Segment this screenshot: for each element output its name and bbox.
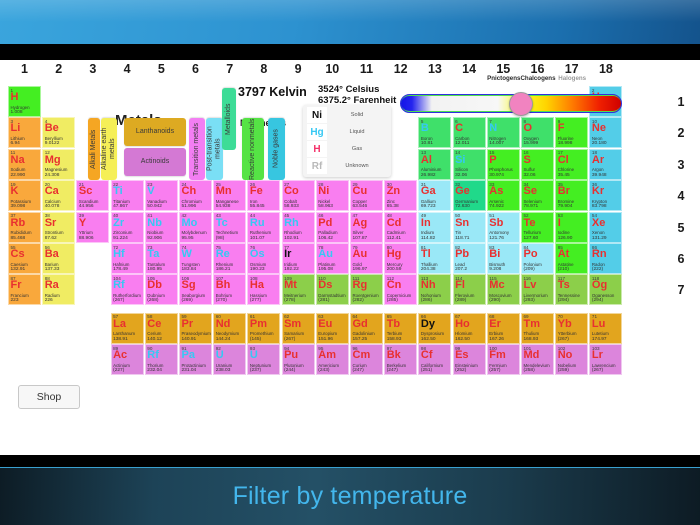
- element-name: Californium: [421, 363, 443, 368]
- element-symbol: Zr: [113, 218, 124, 229]
- element-cell-ra-88[interactable]: 88RaRadium226: [42, 274, 75, 305]
- element-symbol: Hg: [387, 249, 402, 260]
- element-mass: 40.078: [45, 204, 60, 209]
- element-name: Silver: [353, 230, 364, 235]
- element-name: Tellurium: [524, 230, 542, 235]
- element-mass: 180.95: [147, 267, 162, 272]
- state-legend-row-unknown[interactable]: RfUnknown: [303, 158, 391, 174]
- element-cell-mt-109[interactable]: 109MtMeitnerium(278): [282, 274, 315, 305]
- element-symbol: Dy: [421, 319, 435, 330]
- element-cell-pd-46[interactable]: 46PdPalladium106.42: [316, 212, 349, 243]
- element-name: Europium: [318, 331, 337, 336]
- element-mass: 63.546: [353, 204, 368, 209]
- element-mass: 9.208: [489, 267, 501, 272]
- group-number-3: 3: [76, 62, 110, 76]
- element-cell-dy-66[interactable]: 66DyDysprosium162.50: [418, 313, 451, 344]
- element-cell-tm-69[interactable]: 69TmThulium168.93: [521, 313, 554, 344]
- element-cell-p-15[interactable]: 15PPhosphorus30.974: [487, 149, 520, 180]
- element-cell-au-79[interactable]: 79AuGold196.97: [350, 243, 383, 274]
- element-cell-na-11[interactable]: 11NaSodium22.990: [8, 149, 41, 180]
- element-symbol: Cl: [558, 155, 569, 166]
- group-number-18: 18: [589, 62, 623, 76]
- element-cell-pa-91[interactable]: 91PaProtactinium231.04: [179, 344, 212, 375]
- element-cell-xe-54[interactable]: 54XeXenon131.29: [589, 212, 622, 243]
- element-mass: 10.81: [421, 141, 433, 146]
- element-cell-y-39[interactable]: 39YYttrium88.906: [76, 212, 109, 243]
- element-cell-cd-48[interactable]: 48CdCadmium112.41: [384, 212, 417, 243]
- state-legend-row-gas[interactable]: HGas: [303, 141, 391, 157]
- element-symbol: Ts: [558, 280, 570, 291]
- element-cell-ga-31[interactable]: 31GaGallium69.723: [418, 180, 451, 211]
- element-cell-se-34[interactable]: 34SeSelenium78.971: [521, 180, 554, 211]
- element-cell-co-27[interactable]: 27CoCobalt58.933: [282, 180, 315, 211]
- element-symbol: Rf: [147, 350, 159, 361]
- category-chip-alkaline-earth-metals[interactable]: Alkaline earth metals: [101, 118, 117, 180]
- element-symbol: Cs: [11, 249, 25, 260]
- state-legend-symbol: H: [307, 141, 327, 157]
- element-cell-os-76[interactable]: 76OsOsmium190.23: [247, 243, 280, 274]
- element-symbol: Sb: [489, 218, 503, 229]
- element-cell-ds-110[interactable]: 110DsDarmstadtium(281): [316, 274, 349, 305]
- element-cell-cf-98[interactable]: 98CfCalifornium(251): [418, 344, 451, 375]
- element-cell-tb-65[interactable]: 65TbTerbium158.93: [384, 313, 417, 344]
- temperature-celsius: 3524° Celsius: [318, 84, 379, 95]
- element-symbol: Na: [11, 155, 25, 166]
- category-chip-transition-metals[interactable]: Transition metals: [189, 118, 205, 180]
- element-cell-v-23[interactable]: 23VVanadium50.942: [145, 180, 178, 211]
- group-number-7: 7: [213, 62, 247, 76]
- element-symbol: Bk: [387, 350, 401, 361]
- element-cell-no-102[interactable]: 102NoNobelium(259): [555, 344, 588, 375]
- element-cell-h-1[interactable]: 1HHydrogen1.008: [8, 86, 41, 117]
- category-chip-actinoids[interactable]: Actinoids: [124, 148, 186, 176]
- element-mass: 144.24: [216, 337, 231, 342]
- state-legend-label: Liquid: [333, 124, 381, 140]
- element-mass: (98): [216, 236, 225, 241]
- element-symbol: Ne: [592, 123, 606, 134]
- period-number-1: 1: [668, 95, 694, 109]
- element-mass: 174.97: [592, 337, 607, 342]
- element-mass: 26.982: [421, 173, 436, 178]
- element-symbol: Fr: [11, 280, 22, 291]
- element-name: Protactinium: [182, 363, 206, 368]
- element-cell-rn-86[interactable]: 86RnRadon(222): [589, 243, 622, 274]
- element-mass: (237): [250, 368, 261, 373]
- state-legend-row-liquid[interactable]: HgLiquid: [303, 124, 391, 140]
- element-cell-rf-90[interactable]: 90RfThorium232.04: [145, 344, 178, 375]
- element-mass: 226: [45, 298, 53, 303]
- category-chip-alkali-metals[interactable]: Alkali Metals: [88, 118, 100, 180]
- element-cell-i-53[interactable]: 53IIodine126.90: [555, 212, 588, 243]
- element-symbol: Tm: [524, 319, 541, 330]
- group-number-17: 17: [555, 62, 589, 76]
- element-symbol: Sg: [182, 280, 196, 291]
- element-symbol: Cu: [353, 186, 368, 197]
- category-chip-metalloids[interactable]: Metalloids: [222, 88, 236, 150]
- element-mass: 207.2: [455, 267, 467, 272]
- element-name: Thallium: [421, 262, 438, 267]
- element-cell-tl-81[interactable]: 81TlThallium204.38: [418, 243, 451, 274]
- element-cell-u-93[interactable]: 93UNeptunium(237): [247, 344, 280, 375]
- element-name: Ytterbium: [558, 331, 577, 336]
- element-cell-sm-62[interactable]: 62SmSamarium(267): [282, 313, 315, 344]
- element-cell-as-33[interactable]: 33AsArsenic74.922: [487, 180, 520, 211]
- element-cell-es-99[interactable]: 99EsEinsteinium(252): [453, 344, 486, 375]
- element-mass: 12.011: [455, 141, 469, 146]
- element-mass: (286): [421, 298, 432, 303]
- element-mass: 157.25: [353, 337, 368, 342]
- element-name: Iridium: [284, 262, 297, 267]
- element-cell-ce-58[interactable]: 58CeCerium140.12: [145, 313, 178, 344]
- element-symbol: Rf: [113, 280, 125, 291]
- element-mass: 79.904: [558, 204, 573, 209]
- element-symbol: No: [558, 350, 573, 361]
- element-cell-mg-12[interactable]: 12MgMagnesium24.308: [42, 149, 75, 180]
- element-cell-db-105[interactable]: 105DbDubnium(268): [145, 274, 178, 305]
- element-cell-pr-59[interactable]: 59PrPraseodymium140.91: [179, 313, 212, 344]
- element-symbol: Pd: [318, 218, 332, 229]
- category-chip-post-transition-metals[interactable]: Post-transition metals: [206, 118, 223, 180]
- element-cell-cu-29[interactable]: 29CuCopper63.546: [350, 180, 383, 211]
- element-mass: 87.62: [45, 236, 57, 241]
- element-name: Barium: [45, 262, 59, 267]
- element-mass: 55.845: [250, 204, 265, 209]
- element-cell-tc-43[interactable]: 43TcTechnetium(98): [213, 212, 246, 243]
- element-cell-pu-94[interactable]: 94PuPlutonium(244): [282, 344, 315, 375]
- element-cell-md-101[interactable]: 101MdMendelevium(258): [521, 344, 554, 375]
- element-cell-ar-18[interactable]: 18ArArgon39.948: [589, 149, 622, 180]
- element-mass: 9.0122: [45, 141, 60, 146]
- element-cell-gd-64[interactable]: 64GdGadolinium157.25: [350, 313, 383, 344]
- element-symbol: Er: [489, 319, 501, 330]
- element-cell-fe-26[interactable]: 26FeIron55.845: [247, 180, 280, 211]
- element-cell-ta-73[interactable]: 73TaTantalum180.95: [145, 243, 178, 274]
- element-name: Tin: [455, 230, 461, 235]
- element-symbol: Ce: [147, 319, 161, 330]
- element-mass: (267): [284, 337, 295, 342]
- element-cell-po-84[interactable]: 84PoPolonium(209): [521, 243, 554, 274]
- element-cell-ts-117[interactable]: 117TsTennessine(294): [555, 274, 588, 305]
- element-mass: (290): [489, 298, 500, 303]
- group-number-13: 13: [418, 62, 452, 76]
- element-cell-rb-37[interactable]: 37RbRubididum85.468: [8, 212, 41, 243]
- element-cell-o-8[interactable]: 8OOxygen15.999: [521, 117, 554, 148]
- element-cell-fm-100[interactable]: 100FmFermium(257): [487, 344, 520, 375]
- element-cell-c-6[interactable]: 6CCarbon12.011: [453, 117, 486, 148]
- group-number-header: 123456789101112131415Pnictogens16Chalcog…: [0, 60, 700, 82]
- element-mass: 24.308: [45, 173, 60, 178]
- element-symbol: At: [558, 249, 570, 260]
- element-cell-k-19[interactable]: 19KPotassium39.098: [8, 180, 41, 211]
- state-legend-symbol: Rf: [307, 158, 327, 174]
- category-chip-reactive-nonmetals[interactable]: Reactive nonmetals: [242, 118, 264, 180]
- element-mass: 30.974: [489, 173, 504, 178]
- footer-title: Filter by temperature: [233, 482, 468, 511]
- element-mass: (267): [113, 298, 124, 303]
- element-cell-ni-28[interactable]: 28NiNickel58.963: [316, 180, 349, 211]
- element-cell-rh-45[interactable]: 45RhRhodium102.91: [282, 212, 315, 243]
- element-symbol: Mo: [182, 218, 198, 229]
- element-symbol: Os: [250, 249, 265, 260]
- element-cell-mo-42[interactable]: 42MoMolybdenum95.95: [179, 212, 212, 243]
- element-cell-re-75[interactable]: 75ReRhenium186.21: [213, 243, 246, 274]
- element-name: Gallium: [421, 199, 436, 204]
- element-name: Scandium: [79, 199, 99, 204]
- category-chip-noble-gases[interactable]: Noble gases: [268, 118, 285, 180]
- element-symbol: As: [489, 186, 503, 197]
- element-cell-kr-36[interactable]: 36KrKrypton83.798: [589, 180, 622, 211]
- element-cell-rg-111[interactable]: 111RgRoentgenium(282): [350, 274, 383, 305]
- element-cell-nh-113[interactable]: 113NhNohonium(286): [418, 274, 451, 305]
- element-cell-ch-24[interactable]: 24ChChromium51.996: [179, 180, 212, 211]
- element-mass: (269): [182, 298, 193, 303]
- element-name: Neodymium: [216, 331, 239, 336]
- element-mass: 72.630: [455, 204, 470, 209]
- element-symbol: Ag: [353, 218, 368, 229]
- element-symbol: Ra: [45, 280, 59, 291]
- element-mass: (145): [250, 337, 261, 342]
- element-cell-ha-108[interactable]: 108HaHassium(277): [247, 274, 280, 305]
- element-mass: 118.71: [455, 236, 469, 241]
- element-cell-at-85[interactable]: 85AtAstatine(210): [555, 243, 588, 274]
- element-mass: (268): [147, 298, 158, 303]
- element-mass: 65.38: [387, 204, 399, 209]
- top-black-band: [0, 44, 700, 60]
- element-symbol: Ge: [455, 186, 470, 197]
- element-symbol: Sn: [455, 218, 469, 229]
- element-name: Praseodymium: [182, 331, 211, 336]
- element-name: Berkelium: [387, 363, 407, 368]
- element-cell-ho-67[interactable]: 67HoHlomium162.50: [453, 313, 486, 344]
- element-mass: (294): [558, 298, 569, 303]
- element-symbol: Si: [455, 155, 465, 166]
- element-cell-al-13[interactable]: 13AlAluminium26.982: [418, 149, 451, 180]
- element-cell-sb-51[interactable]: 51SbAntomony121.76: [487, 212, 520, 243]
- element-cell-ca-20[interactable]: 20CaCalcium40.078: [42, 180, 75, 211]
- element-cell-bh-107[interactable]: 107BhBohrium(270): [213, 274, 246, 305]
- element-symbol: Pr: [182, 319, 194, 330]
- element-name: Tungsten: [182, 262, 200, 267]
- element-mass: 74.922: [489, 204, 504, 209]
- element-mass: 190.23: [250, 267, 265, 272]
- element-cell-fl-114[interactable]: 114FlFlerovium(289): [453, 274, 486, 305]
- element-cell-pm-61[interactable]: 61PmPromethium(145): [247, 313, 280, 344]
- element-name: Radon: [592, 262, 605, 267]
- element-cell-s-16[interactable]: 16SSulfur32.06: [521, 149, 554, 180]
- element-symbol: P: [489, 155, 496, 166]
- element-name: Promethium: [250, 331, 274, 336]
- element-name: Osmium: [250, 262, 266, 267]
- element-name: Zinc: [387, 199, 395, 204]
- element-name: Calcium: [45, 199, 61, 204]
- element-name: Lead: [455, 262, 465, 267]
- element-symbol: Se: [524, 186, 537, 197]
- element-cell-cm-96[interactable]: 96CmCurium(247): [350, 344, 383, 375]
- element-cell-br-35[interactable]: 35BrBromine79.904: [555, 180, 588, 211]
- element-mass: 6.94: [11, 141, 20, 146]
- element-cell-lr-103[interactable]: 103LrLawrencium(267): [589, 344, 622, 375]
- element-cell-lv-116[interactable]: 116LvLivermorium(293): [521, 274, 554, 305]
- element-name: Strontium: [45, 230, 64, 235]
- element-cell-zn-30[interactable]: 30ZnZinc65.38: [384, 180, 417, 211]
- period-number-4: 4: [668, 189, 694, 203]
- element-symbol: F: [558, 123, 565, 134]
- element-cell-f-9[interactable]: 9FFluorine18.998: [555, 117, 588, 148]
- element-mass: (243): [318, 368, 329, 373]
- element-mass: 35.45: [558, 173, 570, 178]
- group-number-9: 9: [281, 62, 315, 76]
- element-name: Yttrium: [79, 230, 93, 235]
- element-mass: 151.96: [318, 337, 333, 342]
- element-cell-be-4[interactable]: 4BeBeryllium9.0122: [42, 117, 75, 148]
- element-cell-am-95[interactable]: 95AmAmericium(243): [316, 344, 349, 375]
- element-mass: 1.008: [11, 110, 23, 115]
- element-cell-ne-10[interactable]: 10NeNeon20.180: [589, 117, 622, 148]
- element-name: Aluminium: [421, 167, 442, 172]
- element-symbol: Pm: [250, 319, 267, 330]
- element-mass: (267): [558, 337, 569, 342]
- element-cell-sg-106[interactable]: 106SgSeaborgium(269): [179, 274, 212, 305]
- element-cell-te-52[interactable]: 52TeTellurium127.60: [521, 212, 554, 243]
- element-mass: 102.91: [284, 236, 299, 241]
- element-cell-ru-44[interactable]: 44RuRuthenium101.07: [247, 212, 280, 243]
- element-mass: (210): [558, 267, 569, 272]
- element-symbol: Ds: [318, 280, 332, 291]
- element-mass: 92.906: [147, 236, 162, 241]
- state-legend-row-solid[interactable]: NiSolid: [303, 107, 391, 123]
- element-cell-sr-38[interactable]: 38SrStrontium87.62: [42, 212, 75, 243]
- element-symbol: Rn: [592, 249, 607, 260]
- element-cell-in-49[interactable]: 49InIndium114.82: [418, 212, 451, 243]
- element-cell-ag-47[interactable]: 47AgSilver107.87: [350, 212, 383, 243]
- group-number-8: 8: [247, 62, 281, 76]
- element-cell-er-68[interactable]: 68ErErbium167.26: [487, 313, 520, 344]
- element-mass: 114.82: [421, 236, 435, 241]
- group-subname-17: Halogens: [542, 75, 602, 82]
- element-symbol: C: [455, 123, 463, 134]
- element-cell-ir-77[interactable]: 77IrIridium192.22: [282, 243, 315, 274]
- element-cell-la-57[interactable]: 57LaLanthanum138.91: [111, 313, 144, 344]
- element-symbol: Cm: [353, 350, 371, 361]
- element-cell-u-92[interactable]: 92UUranium238.03: [213, 344, 246, 375]
- element-cell-yb-70[interactable]: 70YbYtterbium(267): [555, 313, 588, 344]
- element-cell-mc-115[interactable]: 115McMoscovium(290): [487, 274, 520, 305]
- footer-bar: Filter by temperature: [0, 467, 700, 525]
- element-name: Cadmium: [387, 230, 406, 235]
- element-cell-ba-56[interactable]: 56BaBarium137.33: [42, 243, 75, 274]
- element-mass: 39.948: [592, 173, 607, 178]
- element-symbol: Db: [147, 280, 162, 291]
- element-cell-ti-22[interactable]: 22TiTitanium47.867: [111, 180, 144, 211]
- element-cell-eu-63[interactable]: 63EuEuropium151.96: [316, 313, 349, 344]
- element-mass: (209): [524, 267, 535, 272]
- element-mass: 186.21: [216, 267, 231, 272]
- element-cell-sc-21[interactable]: 21ScScandium44.956: [76, 180, 109, 211]
- element-name: Rhenium: [216, 262, 234, 267]
- element-symbol: Ir: [284, 249, 291, 260]
- element-name: Xenon: [592, 230, 605, 235]
- element-cell-ge-32[interactable]: 32GeGermanium72.630: [453, 180, 486, 211]
- element-cell-hg-80[interactable]: 80HgMercury200.59: [384, 243, 417, 274]
- element-cell-cn-112[interactable]: 112CnCopernicium(285): [384, 274, 417, 305]
- element-cell-zr-40[interactable]: 40ZrZirconium91.224: [111, 212, 144, 243]
- element-cell-w-74[interactable]: 74WTungsten183.84: [179, 243, 212, 274]
- element-cell-pb-82[interactable]: 82PbLead207.2: [453, 243, 486, 274]
- element-cell-sn-50[interactable]: 50SnTin118.71: [453, 212, 486, 243]
- shop-button[interactable]: Shop: [18, 385, 80, 409]
- element-cell-au-78[interactable]: 78AuPlatinum195.08: [316, 243, 349, 274]
- element-symbol: Rb: [11, 218, 26, 229]
- element-mass: 238.03: [216, 368, 231, 373]
- element-symbol: Ac: [113, 350, 127, 361]
- element-symbol: Ta: [147, 249, 159, 260]
- element-mass: 231.04: [182, 368, 197, 373]
- element-name: Sodium: [11, 167, 26, 172]
- element-name: Lawrencium: [592, 363, 616, 368]
- element-symbol: Mg: [45, 155, 61, 166]
- element-symbol: Nb: [147, 218, 162, 229]
- element-name: Terbium: [387, 331, 403, 336]
- element-cell-n-7[interactable]: 7NNitrogen14.007: [487, 117, 520, 148]
- temperature-slider[interactable]: [400, 92, 622, 116]
- element-cell-b-5[interactable]: 5BBoron10.81: [418, 117, 451, 148]
- element-cell-bk-97[interactable]: 97BkBerkelium(247): [384, 344, 417, 375]
- element-mass: 88.906: [79, 236, 94, 241]
- element-symbol: Mn: [216, 186, 232, 197]
- category-chip-lanthanoids[interactable]: Lanthanoids: [124, 118, 186, 146]
- element-mass: 223: [11, 298, 19, 303]
- element-symbol: Rg: [353, 280, 368, 291]
- element-mass: 14.007: [489, 141, 504, 146]
- element-cell-og-118[interactable]: 118OgOganesson(294): [589, 274, 622, 305]
- element-symbol: Ch: [182, 186, 197, 197]
- element-mass: 83.798: [592, 204, 607, 209]
- element-cell-hf-72[interactable]: 72HfHafnium178.49: [111, 243, 144, 274]
- element-symbol: S: [524, 155, 531, 166]
- element-symbol: Al: [421, 155, 432, 166]
- element-name: Zirconium: [113, 230, 132, 235]
- element-cell-bi-83[interactable]: 83BiBismuth9.208: [487, 243, 520, 274]
- element-mass: 58.933: [284, 204, 299, 209]
- element-name: Argon: [592, 167, 604, 172]
- element-mass: 196.97: [353, 267, 368, 272]
- element-name: Molybdenum: [182, 230, 207, 235]
- element-cell-cl-17[interactable]: 17ClChlorine35.45: [555, 149, 588, 180]
- element-mass: 192.22: [284, 267, 299, 272]
- element-cell-si-14[interactable]: 14SiSilicon32.06: [453, 149, 486, 180]
- element-cell-rf-104[interactable]: 104RfRutherfordium(267): [111, 274, 144, 305]
- element-symbol: Fe: [250, 186, 263, 197]
- element-cell-li-3[interactable]: 3LiLithium6.94: [8, 117, 41, 148]
- element-cell-ac-89[interactable]: 89AcActinium(227): [111, 344, 144, 375]
- element-mass: (270): [216, 298, 227, 303]
- element-symbol: W: [182, 249, 192, 260]
- element-cell-mn-25[interactable]: 25MnManganese54.938: [213, 180, 246, 211]
- element-name: Potassium: [11, 199, 32, 204]
- element-name: Sulfur: [524, 167, 535, 172]
- element-mass: 140.12: [147, 337, 162, 342]
- element-cell-nb-41[interactable]: 41NbNiobium92.906: [145, 212, 178, 243]
- element-cell-lu-71[interactable]: 71LuLutetium174.97: [589, 313, 622, 344]
- element-name: Thulium: [524, 331, 540, 336]
- app-top-bar: [0, 0, 700, 44]
- element-symbol: Fm: [489, 350, 506, 361]
- element-cell-fr-87[interactable]: 87FrFrancium223: [8, 274, 41, 305]
- element-cell-cs-55[interactable]: 55CsCaesium132.91: [8, 243, 41, 274]
- element-mass: 107.87: [353, 236, 368, 241]
- element-name: Arsenic: [489, 199, 504, 204]
- element-cell-nd-60[interactable]: 60NdNeodymium144.24: [213, 313, 246, 344]
